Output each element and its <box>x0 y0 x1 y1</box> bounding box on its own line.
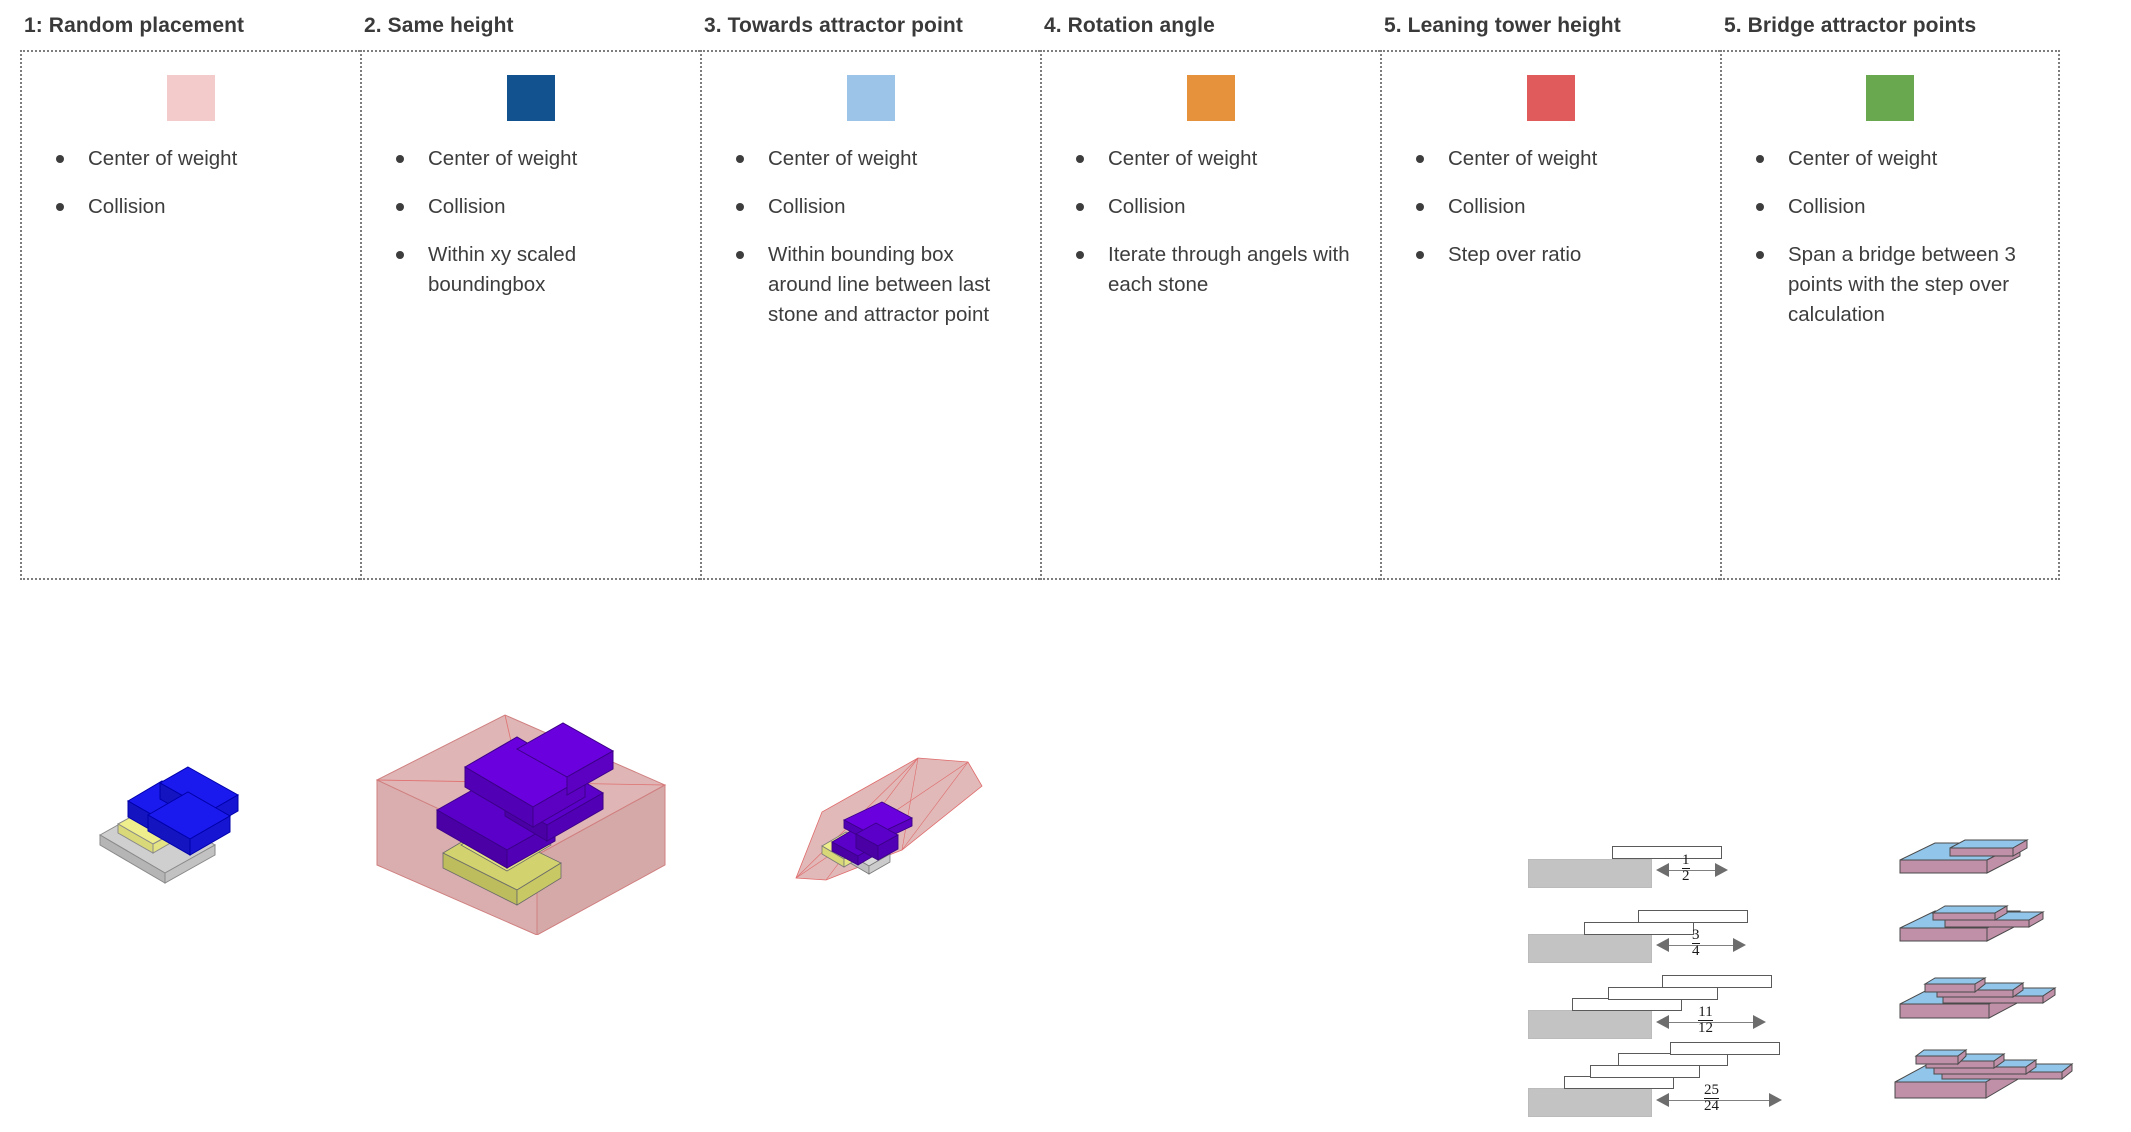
list-item: Center of weight <box>394 144 682 174</box>
list-item: Within bounding box around line between … <box>734 240 1022 330</box>
column-title: 5. Bridge attractor points <box>1720 10 2060 50</box>
fraction-denominator: 2 <box>1682 868 1690 884</box>
table-block <box>1528 934 1652 963</box>
list-item: Collision <box>1754 192 2040 222</box>
swatch-row <box>362 52 700 144</box>
fraction-numerator: 3 <box>1692 928 1700 943</box>
plank <box>1670 1042 1780 1055</box>
dimension-bar <box>1666 1100 1772 1101</box>
criteria-list: Center of weight Collision Iterate throu… <box>1042 144 1380 300</box>
dimension-line: 1 2 <box>1656 859 1728 881</box>
column-3: 3. Towards attractor point Center of wei… <box>700 10 1040 580</box>
swatch-red <box>1527 75 1575 121</box>
swatch-light-blue <box>847 75 895 121</box>
overhang-fraction: 11 12 <box>1698 1005 1713 1036</box>
column-title: 4. Rotation angle <box>1040 10 1380 50</box>
column-4: 4. Rotation angle Center of weight Colli… <box>1040 10 1380 580</box>
swatch-row <box>1722 52 2058 144</box>
dimension-bar <box>1666 870 1718 871</box>
fraction-denominator: 4 <box>1692 943 1700 959</box>
fraction-numerator: 11 <box>1698 1005 1713 1020</box>
plank <box>1590 1065 1700 1078</box>
arrow-right-icon <box>1769 1093 1782 1107</box>
criteria-list: Center of weight Collision Span a bridge… <box>1722 144 2058 330</box>
arrow-right-icon <box>1715 863 1728 877</box>
list-item: Collision <box>734 192 1022 222</box>
render-towards-attractor <box>790 750 990 895</box>
bridge-stack-4 <box>1890 1042 2130 1132</box>
swatch-orange <box>1187 75 1235 121</box>
bridge-stack-1 <box>1895 830 2095 900</box>
plank <box>1612 846 1722 859</box>
column-body: Center of weight Collision Step over rat… <box>1380 50 1720 580</box>
figure-strip: 1 2 3 4 11 12 <box>0 590 2131 976</box>
bridge-stack-2 <box>1895 898 2105 970</box>
column-body: Center of weight Collision Within boundi… <box>700 50 1040 580</box>
column-title: 1: Random placement <box>20 10 360 50</box>
plank <box>1662 975 1772 988</box>
column-body: Center of weight Collision Within xy sca… <box>360 50 700 580</box>
list-item: Step over ratio <box>1414 240 1702 270</box>
column-title: 2. Same height <box>360 10 700 50</box>
list-item: Center of weight <box>1074 144 1362 174</box>
render-same-height <box>365 705 675 935</box>
list-item: Iterate through angels with each stone <box>1074 240 1362 300</box>
swatch-dark-blue <box>507 75 555 121</box>
overhang-fraction: 1 2 <box>1682 853 1690 884</box>
column-6: 5. Bridge attractor points Center of wei… <box>1720 10 2060 580</box>
list-item: Span a bridge between 3 points with the … <box>1754 240 2040 330</box>
list-item: Center of weight <box>54 144 342 174</box>
dimension-bar <box>1666 945 1736 946</box>
column-5: 5. Leaning tower height Center of weight… <box>1380 10 1720 580</box>
criteria-list: Center of weight Collision <box>22 144 360 222</box>
overhang-row-4: 25 24 <box>1528 1042 1888 1104</box>
swatch-green <box>1866 75 1914 121</box>
column-title: 5. Leaning tower height <box>1380 10 1720 50</box>
column-title: 3. Towards attractor point <box>700 10 1040 50</box>
plank <box>1638 910 1748 923</box>
table-block <box>1528 859 1652 888</box>
criteria-list: Center of weight Collision Within xy sca… <box>362 144 700 300</box>
criteria-list: Center of weight Collision Within boundi… <box>702 144 1040 330</box>
fraction-denominator: 24 <box>1704 1098 1719 1114</box>
overhang-row-2: 3 4 <box>1528 910 1888 972</box>
table-block <box>1528 1088 1652 1117</box>
fraction-denominator: 12 <box>1698 1020 1713 1036</box>
arrow-right-icon <box>1733 938 1746 952</box>
swatch-pink <box>167 75 215 121</box>
column-2: 2. Same height Center of weight Collisio… <box>360 10 700 580</box>
list-item: Collision <box>1074 192 1362 222</box>
table-block <box>1528 1010 1652 1039</box>
swatch-row <box>22 52 360 144</box>
criteria-columns: 1: Random placement Center of weight Col… <box>20 10 2065 580</box>
dimension-line: 25 24 <box>1656 1089 1782 1111</box>
list-item: Collision <box>1414 192 1702 222</box>
overhang-row-3: 11 12 <box>1528 975 1888 1037</box>
column-body: Center of weight Collision <box>20 50 360 580</box>
overhang-fraction: 25 24 <box>1704 1083 1719 1114</box>
column-body: Center of weight Collision Iterate throu… <box>1040 50 1380 580</box>
dimension-line: 11 12 <box>1656 1011 1766 1033</box>
fraction-numerator: 25 <box>1704 1083 1719 1098</box>
list-item: Collision <box>394 192 682 222</box>
bridge-stack-3 <box>1895 970 2115 1050</box>
list-item: Collision <box>54 192 342 222</box>
arrow-right-icon <box>1753 1015 1766 1029</box>
render-random-placement <box>70 745 280 890</box>
arrow-left-icon <box>1656 1093 1669 1107</box>
criteria-list: Center of weight Collision Step over rat… <box>1382 144 1720 270</box>
dimension-line: 3 4 <box>1656 934 1746 956</box>
list-item: Center of weight <box>1414 144 1702 174</box>
swatch-row <box>1042 52 1380 144</box>
list-item: Center of weight <box>734 144 1022 174</box>
column-body: Center of weight Collision Span a bridge… <box>1720 50 2060 580</box>
arrow-left-icon <box>1656 938 1669 952</box>
column-1: 1: Random placement Center of weight Col… <box>20 10 360 580</box>
arrow-left-icon <box>1656 1015 1669 1029</box>
fraction-numerator: 1 <box>1682 853 1690 868</box>
swatch-row <box>702 52 1040 144</box>
overhang-fraction: 3 4 <box>1692 928 1700 959</box>
list-item: Within xy scaled boundingbox <box>394 240 682 300</box>
arrow-left-icon <box>1656 863 1669 877</box>
overhang-row-1: 1 2 <box>1528 843 1888 905</box>
plank <box>1608 987 1718 1000</box>
swatch-row <box>1382 52 1720 144</box>
list-item: Center of weight <box>1754 144 2040 174</box>
